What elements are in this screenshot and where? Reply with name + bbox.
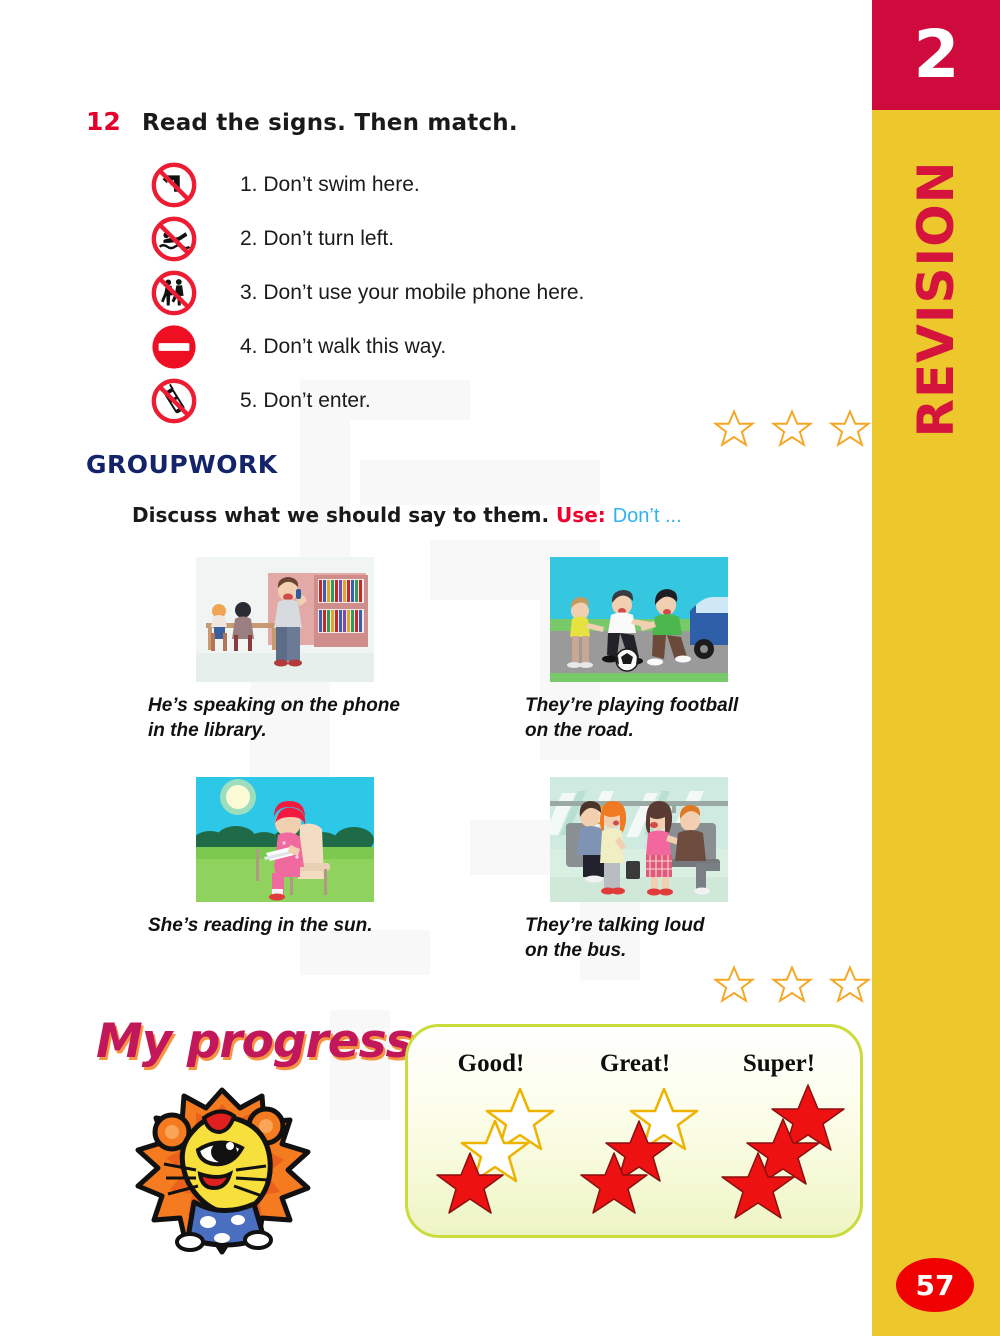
progress-level-super[interactable]: Super! bbox=[704, 1027, 854, 1235]
signs-list: 1. Don’t swim here. 2. Don’t turn left. bbox=[150, 158, 750, 428]
sign-text: 4. Don’t walk this way. bbox=[240, 335, 446, 359]
progress-levels-box: Good! Great! Super! bbox=[405, 1024, 863, 1238]
my-progress-title: My progress bbox=[96, 1014, 413, 1069]
picture-cell: He’s speaking on the phone in the librar… bbox=[196, 557, 448, 743]
progress-stars-good bbox=[416, 1083, 566, 1228]
groupwork-title: GROUPWORK bbox=[86, 450, 278, 479]
picture-cell: She’s reading in the sun. bbox=[196, 777, 448, 938]
progress-level-label: Great! bbox=[560, 1050, 710, 1078]
progress-level-label: Good! bbox=[416, 1050, 566, 1078]
sidebar-label-wrap: REVISION bbox=[872, 130, 1000, 460]
picture-cell: They’re talking loud on the bus. bbox=[550, 777, 825, 963]
instruction-prompt: Don’t ... bbox=[613, 505, 682, 527]
page-number-badge: 57 bbox=[896, 1258, 974, 1312]
picture-caption: He’s speaking on the phone in the librar… bbox=[148, 693, 448, 743]
picture-caption: They’re playing football on the road. bbox=[525, 693, 825, 743]
instruction-use-label: Use: bbox=[556, 503, 606, 527]
rating-stars-groupwork[interactable] bbox=[713, 964, 871, 1006]
sign-text: 1. Don’t swim here. bbox=[240, 173, 420, 197]
unit-sidebar: 2 REVISION 57 bbox=[872, 0, 1000, 1336]
rating-star-empty-icon[interactable] bbox=[829, 408, 871, 450]
talking-on-bus-scene-image bbox=[550, 777, 728, 902]
sign-row[interactable]: 1. Don’t swim here. bbox=[150, 158, 750, 212]
groupwork-instruction: Discuss what we should say to them. Use:… bbox=[132, 503, 682, 528]
exercise-number: 12 bbox=[86, 107, 142, 136]
exercise-heading: 12 Read the signs. Then match. bbox=[86, 107, 518, 136]
library-phone-scene-image bbox=[196, 557, 374, 682]
rating-star-empty-icon[interactable] bbox=[713, 408, 755, 450]
picture-cell: They’re playing football on the road. bbox=[550, 557, 825, 743]
picture-caption: They’re talking loud on the bus. bbox=[525, 913, 825, 963]
sign-row[interactable]: 5. Don’t enter. bbox=[150, 374, 750, 428]
rating-star-empty-icon[interactable] bbox=[713, 964, 755, 1006]
reading-in-sun-scene-image bbox=[196, 777, 374, 902]
no-swimming-sign-icon bbox=[150, 215, 198, 263]
rating-star-empty-icon[interactable] bbox=[771, 964, 813, 1006]
progress-level-label: Super! bbox=[704, 1050, 854, 1078]
progress-stars-super bbox=[704, 1083, 854, 1228]
progress-level-great[interactable]: Great! bbox=[560, 1027, 710, 1235]
no-mobile-phone-sign-icon bbox=[150, 377, 198, 425]
exercise-title: Read the signs. Then match. bbox=[142, 110, 518, 136]
progress-stars-great bbox=[560, 1083, 710, 1228]
football-on-road-scene-image bbox=[550, 557, 728, 682]
sign-text: 2. Don’t turn left. bbox=[240, 227, 394, 251]
sidebar-label-revision: REVISION bbox=[907, 134, 965, 464]
sign-row[interactable]: 3. Don’t use your mobile phone here. bbox=[150, 266, 750, 320]
sign-text: 3. Don’t use your mobile phone here. bbox=[240, 281, 584, 305]
sign-row[interactable]: 2. Don’t turn left. bbox=[150, 212, 750, 266]
no-pedestrians-sign-icon bbox=[150, 269, 198, 317]
rating-star-empty-icon[interactable] bbox=[829, 964, 871, 1006]
unit-number: 2 bbox=[872, 20, 1000, 90]
lion-mascot-icon bbox=[112, 1082, 332, 1267]
no-left-turn-sign-icon bbox=[150, 161, 198, 209]
instruction-text: Discuss what we should say to them. bbox=[132, 503, 549, 527]
rating-stars-exercise[interactable] bbox=[713, 408, 871, 450]
progress-level-good[interactable]: Good! bbox=[416, 1027, 566, 1235]
picture-caption: She’s reading in the sun. bbox=[148, 913, 448, 938]
sign-text: 5. Don’t enter. bbox=[240, 389, 371, 413]
no-entry-sign-icon bbox=[150, 323, 198, 371]
rating-star-empty-icon[interactable] bbox=[771, 408, 813, 450]
sign-row[interactable]: 4. Don’t walk this way. bbox=[150, 320, 750, 374]
textbook-page: 2 REVISION 57 12 Read the signs. Then ma… bbox=[0, 0, 1000, 1336]
